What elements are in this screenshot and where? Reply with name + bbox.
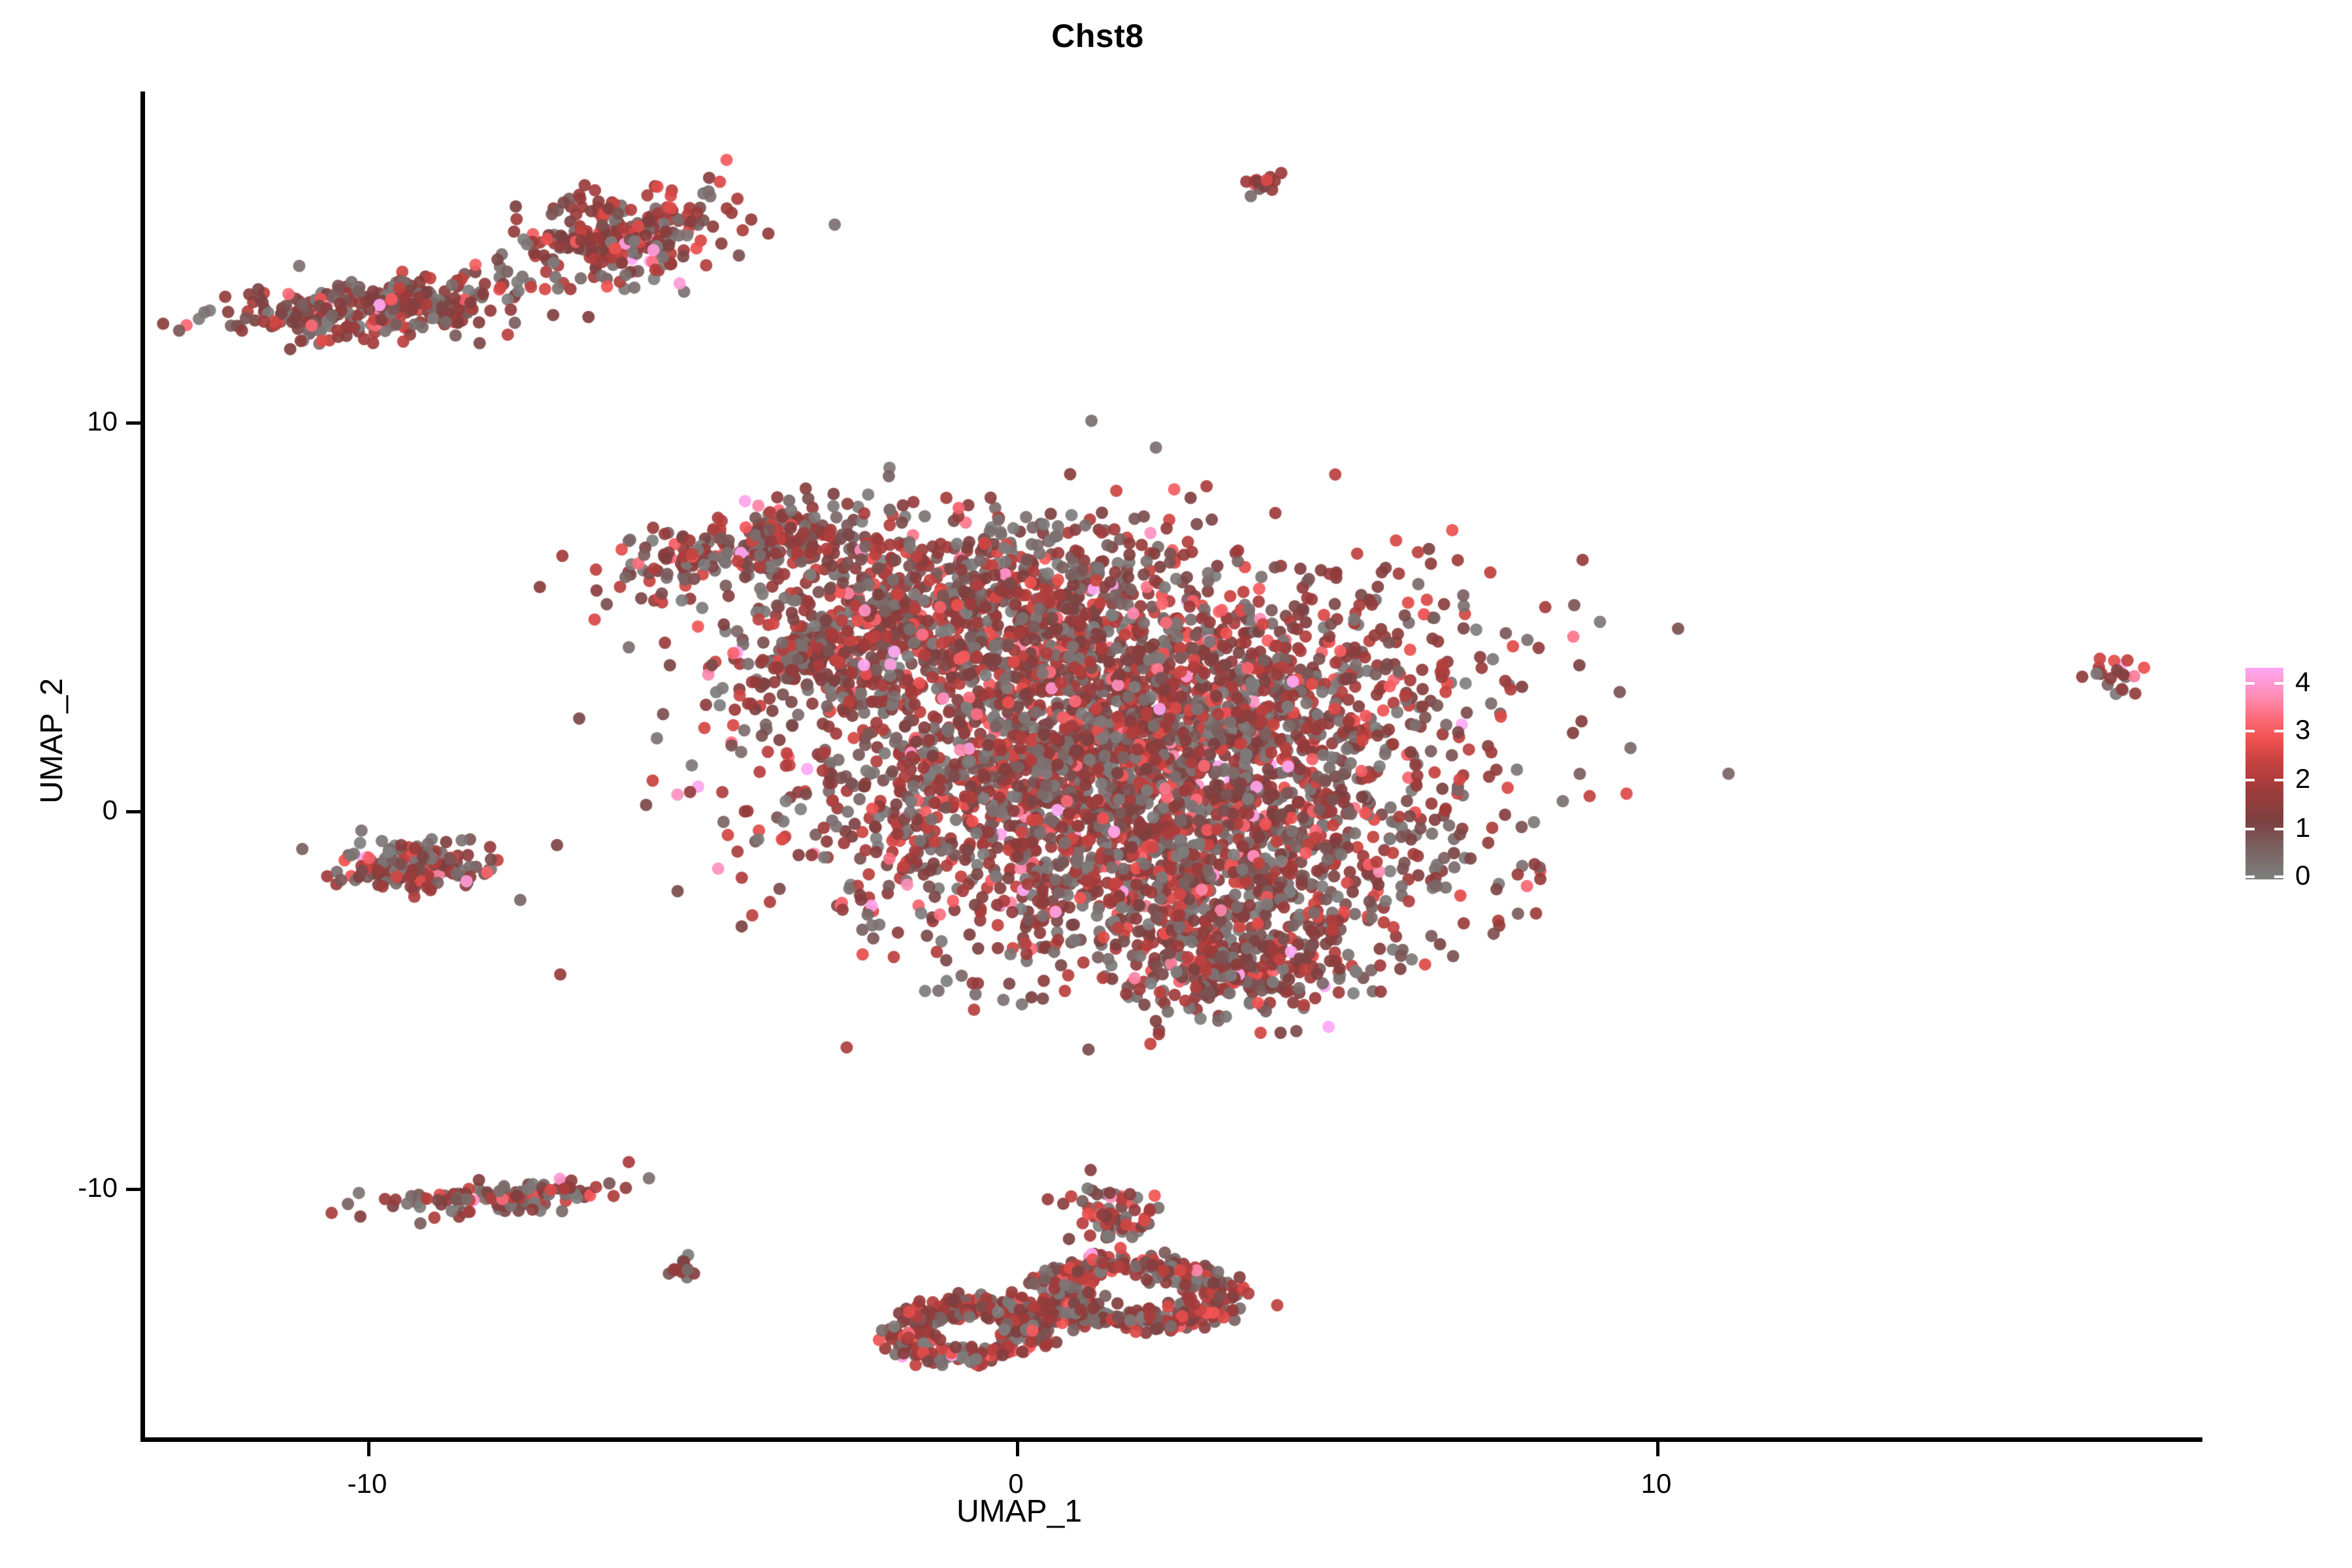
- y-tick-mark-0: [126, 810, 140, 813]
- colorbar-tick-1-left: [2246, 828, 2255, 830]
- y-tick-mark-neg10: [126, 1188, 140, 1191]
- colorbar-tick-4-right: [2274, 682, 2283, 685]
- plot-panel: [144, 91, 2202, 1439]
- x-tick-mark-10: [1656, 1442, 1659, 1456]
- colorbar-tick-4-left: [2246, 682, 2255, 685]
- colorbar-tick-3-right: [2274, 730, 2283, 732]
- y-axis-line: [140, 91, 145, 1441]
- colorbar-label-3: 3: [2295, 716, 2310, 743]
- x-tick-mark-neg10: [367, 1442, 370, 1456]
- colorbar-tick-2-left: [2246, 779, 2255, 781]
- colorbar-label-2: 2: [2295, 765, 2310, 792]
- x-axis-line: [140, 1437, 2202, 1442]
- x-tick-label-0: 0: [951, 1470, 1081, 1497]
- colorbar-tick-1-right: [2274, 828, 2283, 830]
- y-tick-mark-10: [126, 421, 140, 425]
- page-title: Chst8: [0, 20, 2195, 52]
- x-tick-label-neg10: -10: [302, 1470, 433, 1497]
- colorbar-tick-0-right: [2274, 875, 2283, 878]
- x-axis-title: UMAP_1: [902, 1496, 1137, 1527]
- colorbar-gradient: [2246, 668, 2283, 879]
- colorbar-tick-3-left: [2246, 730, 2255, 732]
- y-axis-title: UMAP_2: [37, 623, 68, 858]
- colorbar-label-0: 0: [2295, 862, 2310, 889]
- colorbar-tick-0-left: [2246, 875, 2255, 878]
- scatter-plot-canvas: [144, 91, 2202, 1439]
- colorbar-tick-2-right: [2274, 779, 2283, 781]
- umap-feature-plot: Chst8 10 0 -10 -10 0 10 UMAP_1 UMAP_2 4 …: [0, 0, 2352, 1568]
- legend-colorbar: 4 3 2 1 0: [2246, 668, 2344, 883]
- y-tick-label-10: 10: [13, 408, 118, 435]
- x-tick-label-10: 10: [1591, 1470, 1722, 1497]
- x-tick-mark-0: [1016, 1442, 1019, 1456]
- colorbar-label-1: 1: [2295, 814, 2310, 841]
- y-tick-label-neg10: -10: [13, 1174, 118, 1201]
- colorbar-label-4: 4: [2295, 668, 2310, 696]
